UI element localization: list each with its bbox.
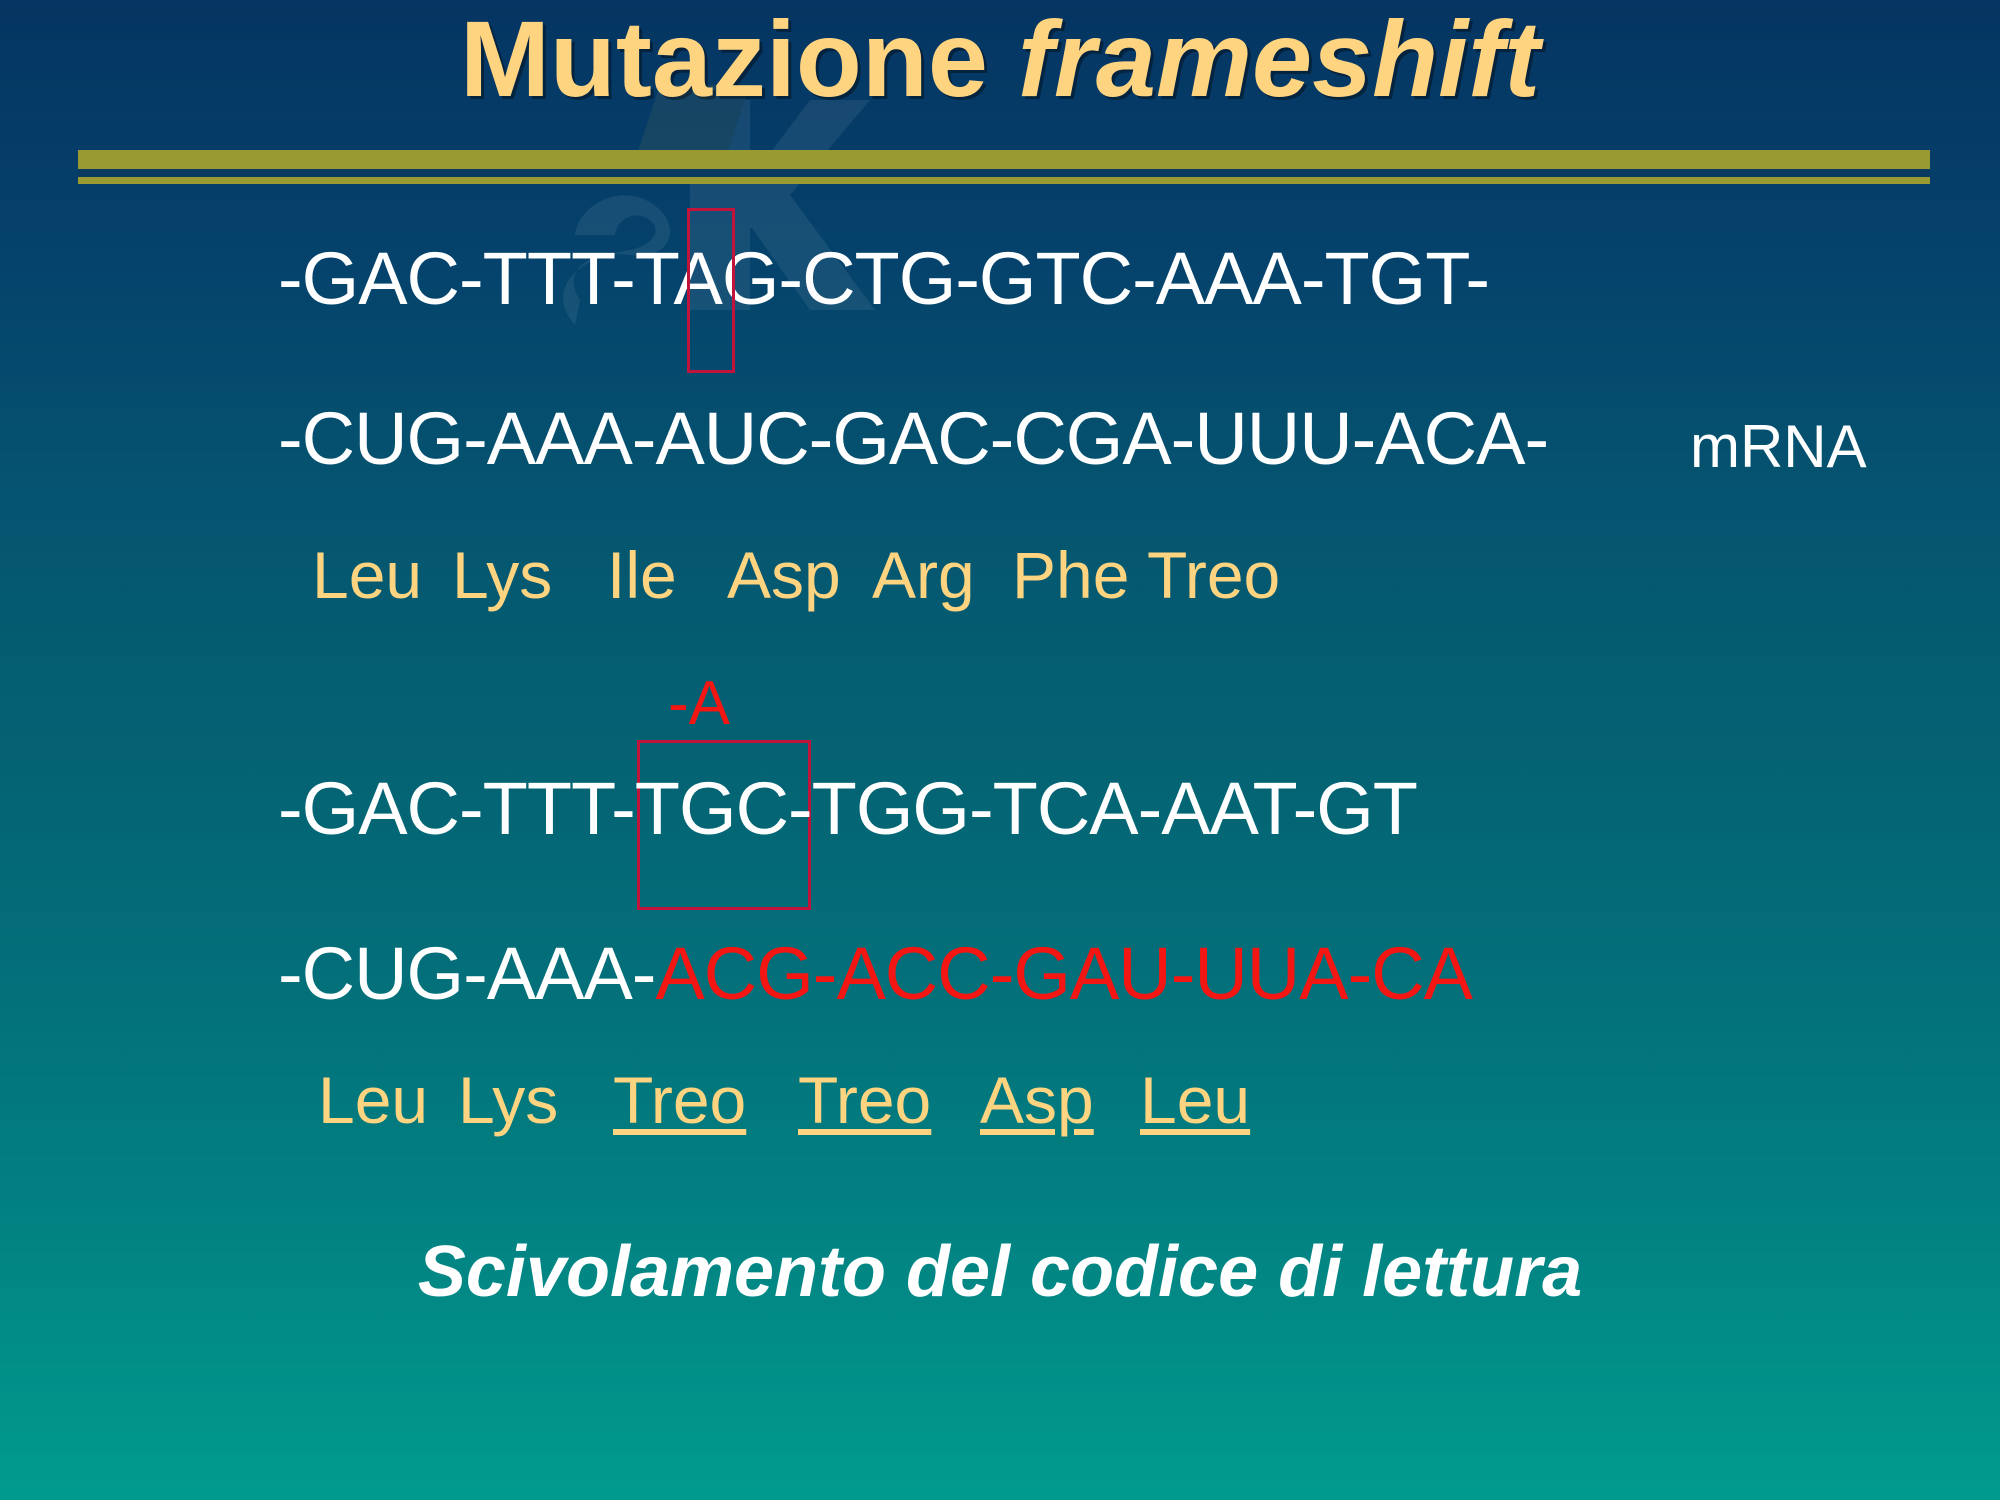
slide-caption: Scivolamento del codice di lettura: [0, 1230, 2000, 1314]
normal-dna-sequence: -GAC-TTT-TAG-CTG-GTC-AAA-TGT-: [278, 240, 1489, 318]
mutated-mrna-sequence: -CUG-AAA-ACG-ACC-GAU-UUA-CA: [278, 935, 1472, 1013]
mutated-amino-acid-row: LeuLysTreoTreoAspLeu: [318, 1065, 1250, 1135]
amino-acid-item: Lys: [452, 540, 607, 610]
insertion-marker: -A: [668, 672, 730, 736]
amino-acid-item: Treo: [1147, 540, 1280, 610]
amino-acid-item: Phe: [1012, 540, 1147, 610]
title-main: Mutazione: [460, 0, 1018, 119]
title-italic: frameshift: [1018, 0, 1540, 119]
slide-canvas: Mutazione frameshift -GAC-TTT-TAG-CTG-GT…: [0, 0, 2000, 1500]
page-title: Mutazione frameshift: [0, 0, 2000, 124]
divider-bar-gap: [78, 169, 1930, 177]
amino-acid-item: Leu: [318, 1065, 458, 1135]
mrna-label: mRNA: [1690, 415, 1867, 479]
amino-acid-item: Lys: [458, 1065, 613, 1135]
amino-acid-item: Treo: [798, 1065, 980, 1135]
amino-acid-item: Asp: [980, 1065, 1140, 1135]
amino-acid-item: Leu: [1140, 1065, 1250, 1135]
amino-acid-item: Arg: [872, 540, 1012, 610]
mutated-mrna-unchanged: -CUG-AAA-: [278, 932, 655, 1015]
amino-acid-item: Leu: [312, 540, 452, 610]
divider-bar-bottom: [78, 177, 1930, 184]
highlight-box-deleted-base: [687, 208, 735, 373]
mutated-dna-sequence: -GAC-TTT-TGC-TGG-TCA-AAT-GT: [278, 770, 1417, 848]
normal-amino-acid-row: LeuLysIleAspArgPheTreo: [312, 540, 1280, 610]
amino-acid-item: Asp: [727, 540, 872, 610]
normal-mrna-sequence: -CUG-AAA-AUC-GAC-CGA-UUU-ACA-: [278, 400, 1548, 478]
mutated-mrna-changed: ACG-ACC-GAU-UUA-CA: [655, 932, 1472, 1015]
amino-acid-item: Treo: [613, 1065, 798, 1135]
amino-acid-item: Ile: [607, 540, 727, 610]
divider-bar-thick: [78, 155, 1930, 169]
